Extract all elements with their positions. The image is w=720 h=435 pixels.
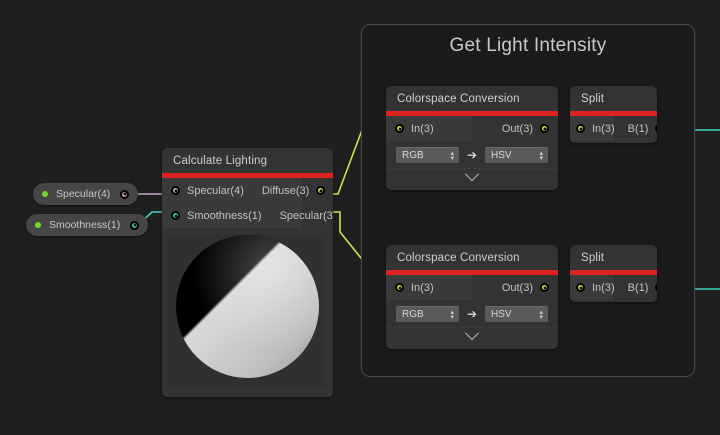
green-dot-icon <box>42 191 48 197</box>
chevron-down-icon <box>465 167 479 181</box>
property-pill-smoothness[interactable]: Smoothness(1) <box>26 214 148 236</box>
stepper-updown-icon[interactable]: ▴▾ <box>539 151 543 161</box>
input-label: In(3) <box>592 123 615 135</box>
input-label: In(3) <box>411 123 434 135</box>
output-label: B(1) <box>628 123 649 135</box>
port-in-in3[interactable] <box>395 124 404 133</box>
port-out-b1[interactable] <box>655 283 657 292</box>
input-slot-specular[interactable]: Specular(4) <box>162 178 253 203</box>
port-in-in3[interactable] <box>576 283 585 292</box>
node-colorspace-conversion-1[interactable]: Colorspace Conversion In(3) Out(3) RGB ▴… <box>386 86 558 190</box>
node-title: Split <box>570 86 657 111</box>
port-in-smoothness1[interactable] <box>171 211 180 220</box>
shader-graph-canvas[interactable]: Get Light Intensity Specular(4) Smoothne… <box>0 0 720 435</box>
port-row-in-out: In(3) Out(3) <box>386 116 558 141</box>
arrow-right-icon: ➔ <box>467 149 477 161</box>
dropdown-from-colorspace[interactable]: RGB ▴▾ <box>396 306 459 322</box>
input-label: In(3) <box>592 282 615 294</box>
group-title: Get Light Intensity <box>362 35 694 57</box>
property-pill-label: Specular(4) <box>56 188 110 200</box>
input-label: In(3) <box>411 282 434 294</box>
sphere-preview <box>176 235 319 378</box>
node-expander[interactable] <box>386 168 558 185</box>
output-slot-out[interactable]: Out(3) <box>493 116 558 141</box>
node-preview-panel[interactable] <box>169 234 326 389</box>
stepper-updown-icon[interactable]: ▴▾ <box>450 151 454 161</box>
port-out-out3[interactable] <box>540 124 549 133</box>
node-title: Split <box>570 245 657 270</box>
node-title: Colorspace Conversion <box>386 245 558 270</box>
dropdown-value: RGB <box>402 309 424 320</box>
output-slot-specular[interactable]: Specular(3) <box>271 203 333 228</box>
port-in-specular4[interactable] <box>171 186 180 195</box>
input-slot-in[interactable]: In(3) <box>570 116 621 141</box>
port-out-smoothness1[interactable] <box>130 221 139 230</box>
input-slot-in[interactable]: In(3) <box>386 275 443 300</box>
stepper-updown-icon[interactable]: ▴▾ <box>539 310 543 320</box>
port-row-specular: Specular(4) Diffuse(3) <box>162 178 333 203</box>
colorspace-enum-row: RGB ▴▾ ➔ HSV ▴▾ <box>386 300 558 327</box>
output-label: Diffuse(3) <box>262 185 309 197</box>
dropdown-value: HSV <box>491 150 512 161</box>
port-row-in-out: In(3) B(1) <box>570 275 657 300</box>
green-dot-icon <box>35 222 41 228</box>
property-pill-specular[interactable]: Specular(4) <box>33 183 138 205</box>
node-split-2[interactable]: Split In(3) B(1) <box>570 245 657 302</box>
input-slot-smoothness[interactable]: Smoothness(1) <box>162 203 271 228</box>
chevron-down-icon <box>465 326 479 340</box>
node-title: Calculate Lighting <box>162 148 333 173</box>
output-slot-b[interactable]: B(1) <box>621 116 657 141</box>
output-label: Out(3) <box>502 282 533 294</box>
node-split-1[interactable]: Split In(3) B(1) <box>570 86 657 143</box>
colorspace-enum-row: RGB ▴▾ ➔ HSV ▴▾ <box>386 141 558 168</box>
port-row-smoothness: Smoothness(1) Specular(3) <box>162 203 333 228</box>
property-pill-label: Smoothness(1) <box>49 219 120 231</box>
node-calculate-lighting[interactable]: Calculate Lighting Specular(4) Diffuse(3… <box>162 148 333 397</box>
dropdown-value: RGB <box>402 150 424 161</box>
dropdown-to-colorspace[interactable]: HSV ▴▾ <box>485 147 548 163</box>
dropdown-to-colorspace[interactable]: HSV ▴▾ <box>485 306 548 322</box>
dropdown-value: HSV <box>491 309 512 320</box>
arrow-right-icon: ➔ <box>467 308 477 320</box>
port-out-out3[interactable] <box>540 283 549 292</box>
output-slot-out[interactable]: Out(3) <box>493 275 558 300</box>
node-title: Colorspace Conversion <box>386 86 558 111</box>
port-in-in3[interactable] <box>395 283 404 292</box>
input-slot-in[interactable]: In(3) <box>386 116 443 141</box>
node-colorspace-conversion-2[interactable]: Colorspace Conversion In(3) Out(3) RGB ▴… <box>386 245 558 349</box>
port-in-in3[interactable] <box>576 124 585 133</box>
port-row-in-out: In(3) Out(3) <box>386 275 558 300</box>
port-out-b1[interactable] <box>655 124 657 133</box>
node-expander[interactable] <box>386 327 558 344</box>
input-label: Specular(4) <box>187 185 244 197</box>
input-label: Smoothness(1) <box>187 210 262 222</box>
port-out-specular4[interactable] <box>120 190 129 199</box>
output-label: B(1) <box>628 282 649 294</box>
output-slot-diffuse[interactable]: Diffuse(3) <box>253 178 333 203</box>
dropdown-from-colorspace[interactable]: RGB ▴▾ <box>396 147 459 163</box>
port-out-diffuse3[interactable] <box>316 186 325 195</box>
stepper-updown-icon[interactable]: ▴▾ <box>450 310 454 320</box>
port-row-in-out: In(3) B(1) <box>570 116 657 141</box>
output-label: Specular(3) <box>280 210 333 222</box>
input-slot-in[interactable]: In(3) <box>570 275 621 300</box>
output-label: Out(3) <box>502 123 533 135</box>
output-slot-b[interactable]: B(1) <box>621 275 657 300</box>
